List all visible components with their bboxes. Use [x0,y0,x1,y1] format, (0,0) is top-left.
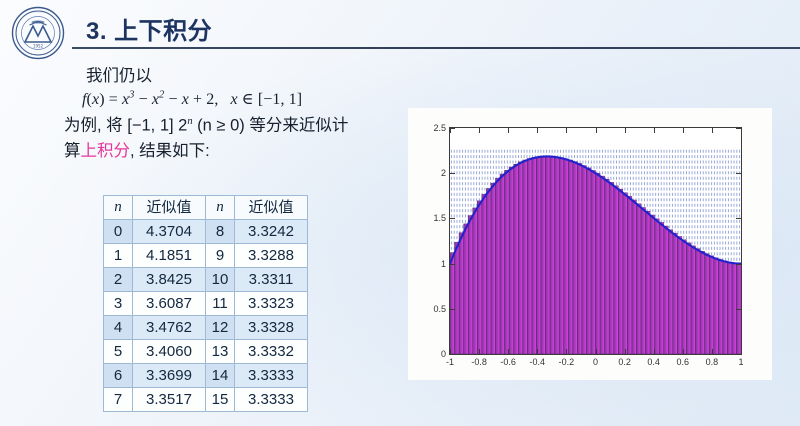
x-tick-mark [712,349,713,354]
x-tick-mark-top [683,128,684,133]
riemann-bar [596,173,601,354]
y-tick-mark [450,173,455,174]
x-tick-mark-top [479,128,480,133]
riemann-bar [450,253,455,354]
prose-highlight-term: 上积分 [81,142,131,160]
x-tick-mark [683,349,684,354]
riemann-bar [536,157,541,354]
riemann-bar [659,222,664,354]
cell-value: 3.3333 [235,364,308,388]
riemann-bar [700,251,705,354]
riemann-bar [500,174,505,354]
riemann-bar [523,160,528,354]
cell-n: 12 [206,316,235,340]
riemann-bar [623,193,628,354]
riemann-bar [723,261,728,354]
x-tick-mark-top [654,128,655,133]
university-emblem-logo: 1952 · · · · · · · · · · · · · · · · [11,6,65,60]
prose-line-3-b: (n ≥ 0) 等分来近似计 [193,117,349,135]
riemann-bar [718,260,723,354]
riemann-bar [514,164,519,354]
page-title: 3. 上下积分 [86,11,212,46]
table-row: 04.370483.3242 [104,220,308,244]
riemann-bar [518,162,523,354]
riemann-bar [505,170,510,354]
prose-line-4: 算上积分, 结果如下: [64,139,424,164]
x-tick-label: 0.6 [668,357,698,367]
col-header-n-left: n [104,196,133,220]
cell-value: 3.3517 [133,388,206,412]
riemann-bar [691,246,696,354]
x-tick-label: -0.2 [551,357,581,367]
riemann-bar [609,182,614,354]
cell-n: 4 [104,316,133,340]
riemann-bar [641,208,646,354]
riemann-bar [655,219,660,354]
riemann-bar [564,159,569,354]
cell-n: 2 [104,268,133,292]
formula-fx: f(x) = x3 − x2 − x + 2,x ∈ [−1, 1] [64,89,424,109]
y-tick-label: 2.5 [416,123,446,133]
riemann-bar [614,186,619,354]
riemann-bar [600,176,605,354]
cell-value: 3.3333 [235,388,308,412]
y-tick-mark [450,354,455,355]
cell-n: 8 [206,220,235,244]
prose-line-3-a: 为例, 将 [−1, 1] 2 [64,117,187,135]
cell-n: 13 [206,340,235,364]
cell-n: 15 [206,388,235,412]
cell-n: 7 [104,388,133,412]
cell-n: 3 [104,292,133,316]
x-tick-mark [450,349,451,354]
cell-value: 3.3323 [235,292,308,316]
cell-value: 4.1851 [133,244,206,268]
cell-value: 3.3328 [235,316,308,340]
slide-header: 1952 · · · · · · · · · · · · · · · · 3. … [0,0,800,60]
approximation-table-wrapper: n 近似值 n 近似值 04.370483.324214.185193.3288… [103,195,308,412]
riemann-bar [568,160,573,354]
prose-line-1: 我们仍以 [64,64,424,89]
riemann-bar [486,188,491,354]
y-tick-mark-right [736,309,741,310]
riemann-bar [545,156,550,354]
cell-n: 0 [104,220,133,244]
y-tick-label: 2 [416,168,446,178]
cell-n: 14 [206,364,235,388]
riemann-bar [677,237,682,354]
plot-svg [450,128,741,354]
svg-text:· · · · · · · · ·: · · · · · · · · · [29,11,46,15]
riemann-bar [582,166,587,354]
riemann-bar [586,168,591,354]
col-header-val-right: 近似值 [235,196,308,220]
riemann-bar [577,163,582,354]
riemann-bar [482,194,487,354]
y-tick-mark [450,264,455,265]
riemann-bar [473,208,478,354]
riemann-bar [673,233,678,354]
cell-value: 3.3288 [235,244,308,268]
riemann-bar [727,262,732,354]
table-row: 73.3517153.3333 [104,388,308,412]
riemann-bar [509,167,514,354]
table-row: 63.3699143.3333 [104,364,308,388]
plot-area [449,127,742,355]
table-row: 53.4060133.3332 [104,340,308,364]
riemann-bar [459,233,464,354]
y-tick-mark [450,218,455,219]
prose-line-4-a: 算 [64,142,81,160]
riemann-bar [664,226,669,354]
cell-n: 9 [206,244,235,268]
cell-n: 11 [206,292,235,316]
cell-value: 3.6087 [133,292,206,316]
cell-value: 3.3311 [235,268,308,292]
x-tick-label: 0.2 [610,357,640,367]
col-header-val-left: 近似值 [133,196,206,220]
cell-value: 3.3699 [133,364,206,388]
prose-line-3: 为例, 将 [−1, 1] 2n (n ≥ 0) 等分来近似计 [64,109,424,139]
riemann-bar [491,183,496,354]
x-tick-mark [508,349,509,354]
riemann-bar [591,170,596,354]
riemann-bar [495,178,500,354]
x-tick-label: 0.8 [697,357,727,367]
riemann-bar [686,243,691,354]
riemann-bar [559,158,564,354]
x-tick-mark-top [625,128,626,133]
riemann-sum-chart-panel: 00.511.522.5 -1-0.8-0.6-0.4-0.200.20.40.… [408,108,772,380]
plot-inner [450,128,741,354]
riemann-bar [541,156,546,354]
table-header-row: n 近似值 n 近似值 [104,196,308,220]
riemann-bar [455,242,460,354]
svg-text:1952: 1952 [33,44,44,49]
x-tick-mark-top [566,128,567,133]
x-tick-mark [596,349,597,354]
cell-value: 3.4060 [133,340,206,364]
riemann-bar [605,179,610,354]
riemann-bar [696,249,701,354]
x-tick-label: 0.4 [639,357,669,367]
riemann-bar [714,258,719,354]
riemann-bar [555,157,560,354]
riemann-bar [668,230,673,354]
riemann-bar [636,204,641,354]
y-tick-mark [450,309,455,310]
y-tick-label: 1.5 [416,213,446,223]
x-tick-label: -0.6 [493,357,523,367]
riemann-bar [705,254,710,354]
riemann-bar [618,189,623,354]
y-tick-mark-right [736,264,741,265]
x-tick-mark [741,349,742,354]
x-tick-mark-top [537,128,538,133]
table-row: 23.8425103.3311 [104,268,308,292]
x-tick-mark-top [741,128,742,133]
riemann-bar [464,224,469,354]
riemann-bar [682,240,687,354]
cell-value: 3.8425 [133,268,206,292]
y-tick-label: 0.5 [416,304,446,314]
x-tick-mark [537,349,538,354]
riemann-bar [573,162,578,354]
x-tick-label: -1 [435,357,465,367]
cell-value: 3.3242 [235,220,308,244]
svg-text:· · · · · · ·: · · · · · · · [31,53,44,57]
cell-value: 3.4762 [133,316,206,340]
x-tick-mark [566,349,567,354]
y-tick-mark-right [736,173,741,174]
cell-n: 5 [104,340,133,364]
y-tick-mark-right [736,218,741,219]
prose-block: 我们仍以 f(x) = x3 − x2 − x + 2,x ∈ [−1, 1] … [64,64,424,164]
riemann-bar [627,196,632,354]
cell-n: 10 [206,268,235,292]
x-tick-label: 1 [726,357,756,367]
x-tick-mark [479,349,480,354]
riemann-bar [650,215,655,354]
prose-line-4-b: , 结果如下: [130,142,210,160]
riemann-bar [550,157,555,354]
riemann-bar [532,157,537,354]
y-tick-label: 1 [416,259,446,269]
riemann-bar [527,159,532,354]
riemann-bar [709,256,714,354]
riemann-bar [646,211,651,354]
y-tick-mark-right [736,354,741,355]
cell-value: 3.3332 [235,340,308,364]
approximation-table: n 近似值 n 近似值 04.370483.324214.185193.3288… [103,195,308,412]
cell-n: 6 [104,364,133,388]
col-header-n-right: n [206,196,235,220]
x-tick-label: -0.8 [464,357,494,367]
x-tick-mark [654,349,655,354]
riemann-bar [477,201,482,354]
x-tick-mark-top [712,128,713,133]
x-tick-mark-top [596,128,597,133]
table-row: 14.185193.3288 [104,244,308,268]
riemann-bar [468,216,473,354]
cell-value: 4.3704 [133,220,206,244]
table-body: 04.370483.324214.185193.328823.8425103.3… [104,220,308,412]
x-tick-label: -0.4 [522,357,552,367]
riemann-bar [632,200,637,354]
table-row: 33.6087113.3323 [104,292,308,316]
x-tick-mark-top [450,128,451,133]
title-divider [72,47,800,49]
x-tick-mark-top [508,128,509,133]
cell-n: 1 [104,244,133,268]
x-tick-mark [625,349,626,354]
table-row: 43.4762123.3328 [104,316,308,340]
x-tick-label: 0 [581,357,611,367]
